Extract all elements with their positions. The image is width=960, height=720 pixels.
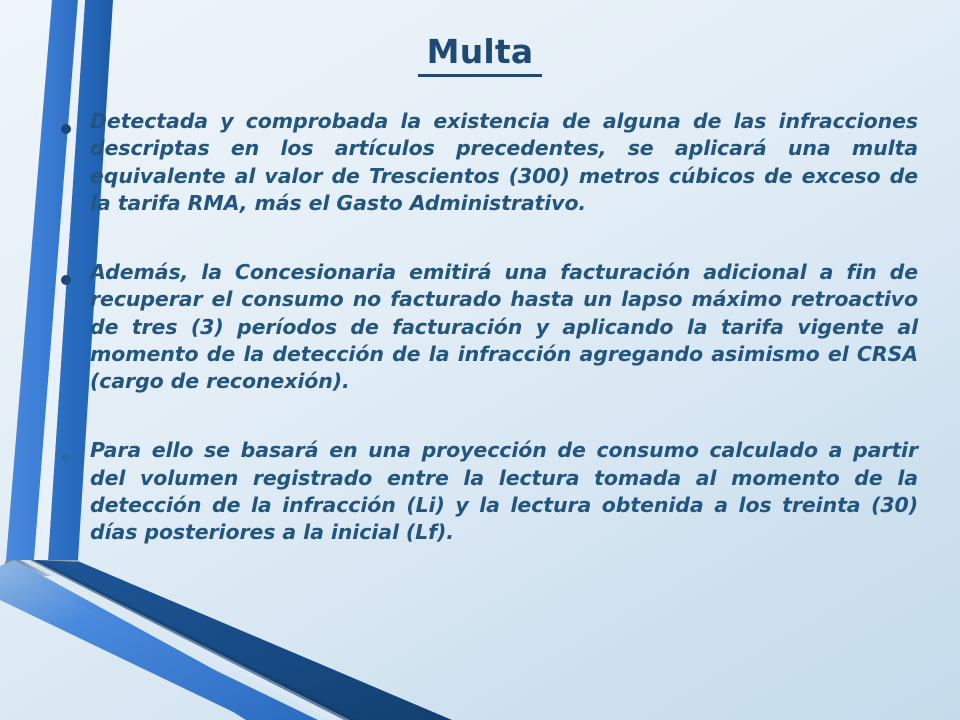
list-item: Además, la Concesionaria emitirá una fac… bbox=[0, 259, 960, 395]
ribbon-stripe-lower-mid bbox=[0, 566, 318, 720]
bullet-list: Detectada y comprobada la existencia de … bbox=[0, 108, 960, 588]
bullet-dot-icon bbox=[61, 275, 71, 285]
page-title: Multa bbox=[418, 32, 543, 77]
presentation-slide: Multa Detectada y comprobada la existenc… bbox=[0, 0, 960, 720]
slide-title-container: Multa bbox=[0, 32, 960, 77]
bullet-paragraph-text: Detectada y comprobada la existencia de … bbox=[90, 108, 918, 217]
bullet-dot-icon bbox=[61, 453, 70, 462]
bullet-dot-icon bbox=[61, 124, 71, 134]
list-item: Detectada y comprobada la existencia de … bbox=[0, 108, 960, 217]
list-item: Para ello se basará en una proyección de… bbox=[0, 437, 960, 546]
bullet-paragraph-text: Para ello se basará en una proyección de… bbox=[90, 437, 918, 546]
bullet-paragraph-text: Además, la Concesionaria emitirá una fac… bbox=[90, 259, 918, 395]
